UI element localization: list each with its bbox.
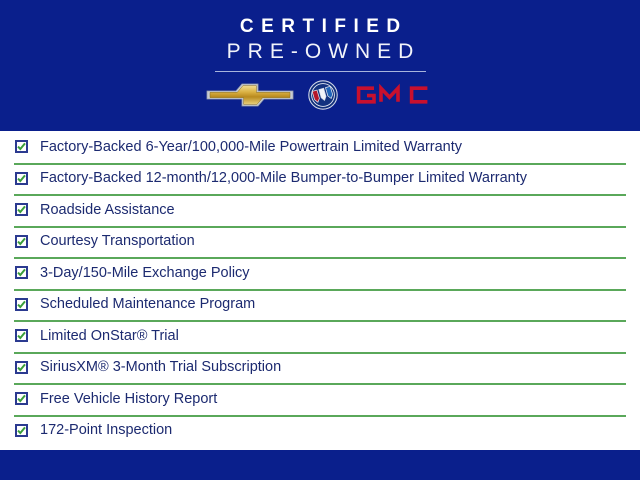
- header-divider: [215, 71, 426, 72]
- list-item-label: Roadside Assistance: [40, 201, 175, 219]
- list-item: Factory-Backed 6-Year/100,000-Mile Power…: [0, 131, 640, 163]
- list-item: Factory-Backed 12-month/12,000-Mile Bump…: [0, 163, 640, 195]
- list-item-label: Factory-Backed 6-Year/100,000-Mile Power…: [40, 138, 462, 156]
- buick-logo-icon: [308, 80, 338, 115]
- page-title-pre-owned: PRE-OWNED: [0, 40, 640, 64]
- checkbox-checked-icon: [15, 266, 28, 279]
- checkbox-checked-icon: [15, 298, 28, 311]
- page-title-certified: CERTIFIED: [0, 16, 640, 38]
- checkbox-checked-icon: [15, 140, 28, 153]
- checkbox-checked-icon: [15, 329, 28, 342]
- checkbox-checked-icon: [15, 235, 28, 248]
- list-item-label: 172-Point Inspection: [40, 421, 172, 439]
- certified-pre-owned-banner: CERTIFIED PRE-OWNED: [0, 0, 640, 480]
- banner-header: CERTIFIED PRE-OWNED: [0, 0, 640, 131]
- list-item-label: 3-Day/150-Mile Exchange Policy: [40, 264, 250, 282]
- list-item: Courtesy Transportation: [0, 226, 640, 258]
- gmc-logo-icon: [352, 83, 434, 112]
- list-item: SiriusXM® 3-Month Trial Subscription: [0, 352, 640, 384]
- list-item: 3-Day/150-Mile Exchange Policy: [0, 257, 640, 289]
- list-item-label: Free Vehicle History Report: [40, 390, 217, 408]
- list-item: Limited OnStar® Trial: [0, 320, 640, 352]
- checkbox-checked-icon: [15, 424, 28, 437]
- checkbox-checked-icon: [15, 361, 28, 374]
- checkbox-checked-icon: [15, 203, 28, 216]
- checkbox-checked-icon: [15, 392, 28, 405]
- list-item: Free Vehicle History Report: [0, 383, 640, 415]
- list-item: Roadside Assistance: [0, 194, 640, 226]
- list-item-label: Limited OnStar® Trial: [40, 327, 179, 345]
- certified-feature-list: Factory-Backed 6-Year/100,000-Mile Power…: [0, 131, 640, 450]
- list-item-label: SiriusXM® 3-Month Trial Subscription: [40, 358, 281, 376]
- list-item: Scheduled Maintenance Program: [0, 289, 640, 321]
- list-item: 172-Point Inspection: [0, 415, 640, 447]
- chevrolet-logo-icon: [206, 82, 294, 113]
- brand-logo-row: [0, 78, 640, 116]
- list-item-label: Factory-Backed 12-month/12,000-Mile Bump…: [40, 169, 527, 187]
- list-item-label: Scheduled Maintenance Program: [40, 295, 255, 313]
- checkbox-checked-icon: [15, 172, 28, 185]
- banner-footer: [0, 450, 640, 480]
- list-item-label: Courtesy Transportation: [40, 232, 195, 250]
